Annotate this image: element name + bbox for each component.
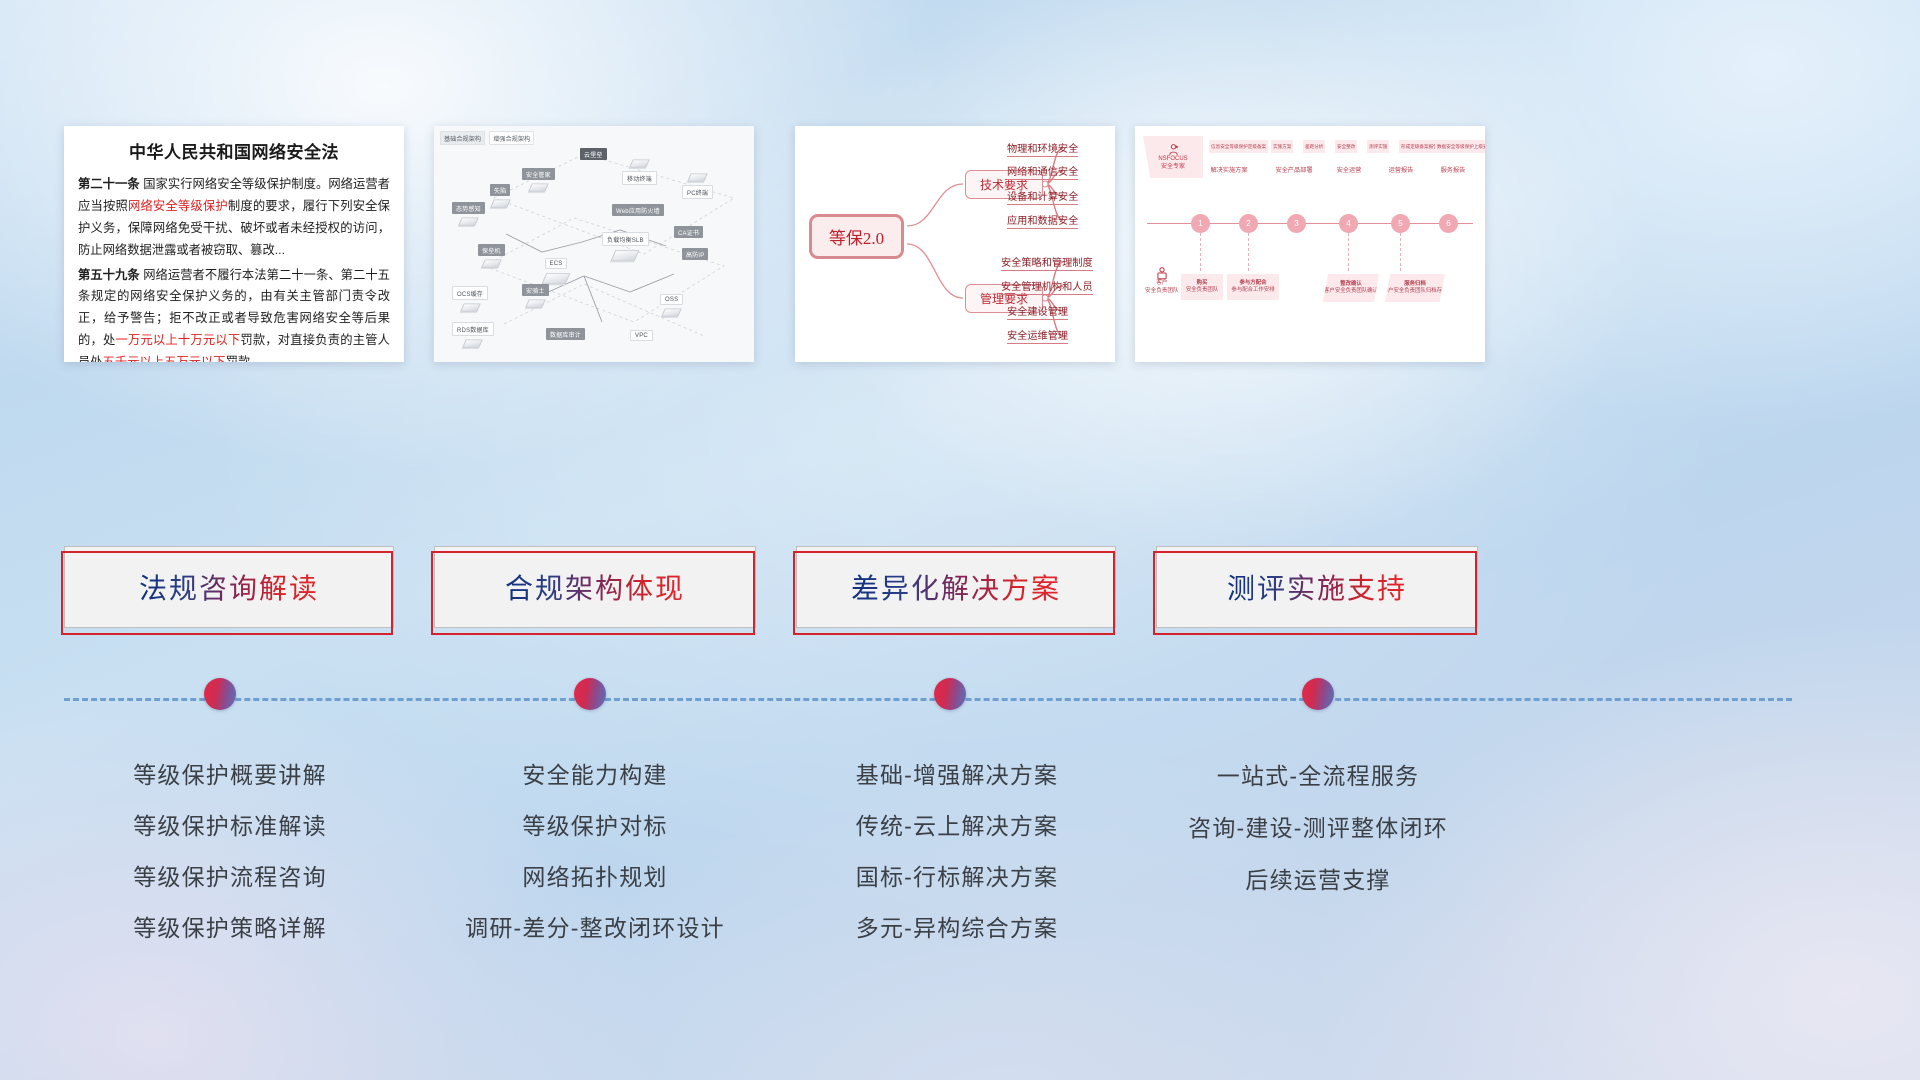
flow-step-3[interactable]: 3 (1287, 214, 1306, 233)
flow-tag-archive: 服务归档 客户安全负责团队归档存放 (1385, 274, 1445, 302)
mindmap-leaf-org-personnel: 安全管理机构和人员 (1001, 278, 1093, 295)
arch-chip-situational-awareness: 态势感知 (452, 202, 485, 214)
flow-phase-2: 安全运营 (1327, 162, 1371, 176)
detail-columns: 等级保护概要讲解 等级保护标准解读 等级保护流程咨询 等级保护策略详解 安全能力… (0, 750, 1920, 1000)
flow-dash-5 (1400, 233, 1401, 271)
detail-item: 等级保护概要讲解 (60, 750, 400, 801)
arch-icon-security-steward (528, 184, 549, 192)
article-59-label: 第五十九条 (78, 268, 140, 282)
flow-tag-rectification-sub: 客户安全负责团队确认 (1324, 288, 1378, 295)
flow-header-chip-1: 实施方案 (1271, 140, 1293, 153)
detail-item: 传统-云上解决方案 (796, 801, 1118, 852)
arch-icon-mobile-terminal (629, 160, 650, 168)
flow-dash-2 (1248, 233, 1249, 271)
flow-header-chip-4: 测评实施 (1367, 140, 1389, 153)
architecture-tab-enhanced[interactable]: 增强合规架构 (489, 131, 534, 145)
article-59-highlight-1: 一万元以上十万元以下 (115, 333, 240, 347)
detail-item: 网络拓扑规划 (434, 852, 756, 903)
flow-header-chip-0: 信息安全等级保护定级备案 (1209, 140, 1268, 153)
flow-customer-label: 客户 (1156, 280, 1167, 288)
nsfocus-brand-badge: NSFOCUS 安全专家 (1143, 136, 1203, 178)
arch-node-oss: OSS (660, 294, 683, 318)
article-21-label: 第二十一条 (78, 177, 140, 191)
flow-customer-sub: 安全负责团队 (1145, 288, 1179, 296)
flow-step-6[interactable]: 6 (1439, 214, 1458, 233)
arch-chip-pc-terminal: PC终端 (682, 185, 713, 199)
arch-chip-slb: 负载均衡SLB (602, 232, 649, 246)
arch-node-anti-ddos-ip: 高防IP (682, 248, 708, 260)
arch-chip-oss: OSS (660, 294, 683, 305)
flow-header-chip-5: 形成定级备案报告 (1399, 140, 1440, 153)
mindmap-leaf-physical-env: 物理和环境安全 (1007, 140, 1078, 157)
flow-tag-cooperation: 参与方配合 参与配合工作安排 (1227, 274, 1279, 300)
detail-item: 国标-行标解决方案 (796, 852, 1118, 903)
expert-person-icon (1167, 143, 1180, 156)
law-article-59: 第五十九条 网络运营者不履行本法第二十一条、第二十五条规定的网络安全保护义务的，… (78, 265, 390, 363)
law-title: 中华人民共和国网络安全法 (78, 138, 390, 163)
arch-chip-anti-ddos-ip: 高防IP (682, 248, 708, 260)
arch-icon-ecs (542, 273, 571, 284)
flow-dash-4 (1348, 233, 1349, 271)
detail-item: 等级保护策略详解 (60, 903, 400, 954)
flow-phase-1: 安全产品部署 (1267, 162, 1321, 176)
detail-item: 等级保护对标 (434, 801, 756, 852)
detail-item: 一站式-全流程服务 (1150, 750, 1486, 802)
arch-node-slb: 负载均衡SLB (602, 232, 649, 263)
banner-label-1: 合规架构体现 (505, 567, 685, 607)
detail-column-3: 基础-增强解决方案 传统-云上解决方案 国标-行标解决方案 多元-异构综合方案 (796, 750, 1118, 954)
arch-node-db-audit: 数据库审计 (546, 328, 585, 340)
flow-tag-purchase: 购买 安全负责团队 (1181, 274, 1223, 300)
arch-chip-vpc: VPC (630, 330, 653, 341)
detail-column-1: 等级保护概要讲解 等级保护标准解读 等级保护流程咨询 等级保护策略详解 (60, 750, 400, 954)
timeline-dot-1[interactable] (204, 678, 236, 710)
detail-item: 等级保护标准解读 (60, 801, 400, 852)
arch-icon-rds (463, 340, 484, 348)
flow-customer-block: 客户 安全负责团队 (1145, 266, 1179, 295)
flow-dash-1 (1200, 233, 1201, 271)
flow-tag-cooperation-sub: 参与配合工作安排 (1231, 287, 1274, 294)
arch-chip-bastion-host: 保垒机 (478, 244, 505, 256)
flow-step-2[interactable]: 2 (1239, 214, 1258, 233)
arch-chip-security-steward: 安全管家 (522, 168, 555, 180)
flow-tag-purchase-title: 购买 (1197, 280, 1208, 287)
flow-header-chip-6: 数据安全等级保护上级安全运维服务 (1435, 140, 1485, 153)
detail-item: 后续运营支撑 (1150, 854, 1486, 906)
banner-label-2: 差异化解决方案 (851, 567, 1061, 607)
timeline (0, 670, 1920, 728)
arch-node-situational-awareness: 态势感知 (452, 202, 485, 227)
arch-chip-cloud-bastion: 云堡垒 (580, 148, 607, 160)
arch-node-cloud-bastion: 云堡垒 (580, 148, 607, 160)
flow-tag-rectification: 整改确认 客户安全负责团队确认 (1323, 274, 1379, 302)
card-law-document[interactable]: 中华人民共和国网络安全法 第二十一条 国家实行网络安全等级保护制度。网络运营者应… (64, 126, 404, 362)
flow-tag-archive-title: 服务归档 (1404, 281, 1426, 288)
timeline-dot-3[interactable] (934, 678, 966, 710)
architecture-tab-basic[interactable]: 基础合规架构 (440, 131, 485, 145)
arch-chip-anqishi: 安骑士 (522, 284, 549, 296)
mindmap-canvas: 等保2.0 技术要求 管理要求 物理和环境安全 网络和通信安全 设备和计算安全 … (795, 126, 1115, 362)
flow-header-chip-3: 安全整改 (1335, 140, 1357, 153)
arch-chip-ecs: ECS (545, 258, 568, 269)
customer-person-icon (1155, 266, 1169, 280)
flow-header-chip-2: 差距分析 (1303, 140, 1325, 153)
arch-node-waf: Web应用防火墙 (612, 204, 664, 216)
service-flow-canvas: NSFOCUS 安全专家 信息安全等级保护定级备案 实施方案 差距分析 安全整改… (1135, 126, 1485, 362)
architecture-canvas: 基础合规架构 增强合规架构 云堡垒 安全管家 失陷 态势感知 保垒机 (434, 126, 754, 362)
nsfocus-brand-name: NSFOCUS (1158, 156, 1187, 164)
arch-chip-rds: RDS数据库 (452, 322, 494, 336)
banner-row: 法规咨询解读 合规架构体现 差异化解决方案 测评实施支持 (0, 546, 1920, 634)
detail-item: 调研-差分-整改闭环设计 (434, 903, 756, 954)
detail-item: 基础-增强解决方案 (796, 750, 1118, 801)
arch-chip-mobile-terminal: 移动终端 (622, 171, 657, 185)
arch-icon-ocs-cache (460, 304, 481, 312)
arch-icon-bastion-host (481, 260, 502, 268)
card-row: 中华人民共和国网络安全法 第二十一条 国家实行网络安全等级保护制度。网络运营者应… (0, 126, 1920, 362)
arch-icon-pc-terminal (687, 174, 708, 182)
law-document-body: 中华人民共和国网络安全法 第二十一条 国家实行网络安全等级保护制度。网络运营者应… (64, 126, 404, 362)
arch-node-breach: 失陷 (490, 184, 510, 209)
mindmap-root-node[interactable]: 等保2.0 (809, 214, 904, 259)
arch-node-ocs-cache: OCS缓存 (452, 286, 488, 313)
arch-node-bastion-host: 保垒机 (478, 244, 505, 269)
flow-tag-archive-sub: 客户安全负责团队归档存放 (1383, 288, 1448, 295)
arch-node-rds: RDS数据库 (452, 322, 494, 349)
banner-label-3: 测评实施支持 (1227, 567, 1407, 607)
mindmap-leaf-construction-mgmt: 安全建设管理 (1007, 303, 1068, 320)
flow-phase-3: 运营报告 (1379, 162, 1423, 176)
flow-tag-purchase-sub: 安全负责团队 (1186, 287, 1218, 294)
arch-node-security-steward: 安全管家 (522, 168, 555, 193)
arch-node-mobile-terminal: 移动终端 (622, 156, 657, 185)
card-service-flow[interactable]: NSFOCUS 安全专家 信息安全等级保护定级备案 实施方案 差距分析 安全整改… (1135, 126, 1485, 362)
mindmap-leaf-policy-system: 安全策略和管理制度 (1001, 254, 1093, 271)
mindmap-leaf-network-comm: 网络和通信安全 (1007, 163, 1078, 180)
nsfocus-brand-sub: 安全专家 (1161, 164, 1185, 172)
detail-item: 等级保护流程咨询 (60, 852, 400, 903)
card-architecture-diagram[interactable]: 基础合规架构 增强合规架构 云堡垒 安全管家 失陷 态势感知 保垒机 (434, 126, 754, 362)
arch-node-ca-cert: CA证书 (674, 226, 703, 238)
article-21-highlight: 网络安全等级保护 (128, 199, 228, 213)
card-mindmap[interactable]: 等保2.0 技术要求 管理要求 物理和环境安全 网络和通信安全 设备和计算安全 … (795, 126, 1115, 362)
flow-phase-4: 服务报告 (1431, 162, 1475, 176)
detail-column-4: 一站式-全流程服务 咨询-建设-测评整体闭环 后续运营支撑 (1150, 750, 1486, 906)
law-article-21: 第二十一条 国家实行网络安全等级保护制度。网络运营者应当按照网络安全等级保护制度… (78, 174, 390, 262)
detail-item: 安全能力构建 (434, 750, 756, 801)
article-59-text-part3: 罚款。 (226, 355, 263, 362)
mindmap-leaf-ops-mgmt: 安全运维管理 (1007, 327, 1068, 344)
flow-tag-cooperation-title: 参与方配合 (1240, 280, 1267, 287)
timeline-dot-2[interactable] (574, 678, 606, 710)
banner-assessment-support[interactable]: 测评实施支持 (1156, 546, 1478, 628)
architecture-tabs[interactable]: 基础合规架构 增强合规架构 (440, 131, 534, 145)
banner-differentiated-solution[interactable]: 差异化解决方案 (796, 546, 1116, 628)
timeline-dashed-line (64, 698, 1792, 701)
detail-item: 多元-异构综合方案 (796, 903, 1118, 954)
banner-regulation-consulting[interactable]: 法规咨询解读 (64, 546, 394, 628)
arch-icon-slb (611, 250, 640, 261)
timeline-dot-4[interactable] (1302, 678, 1334, 710)
banner-label-0: 法规咨询解读 (139, 567, 319, 607)
arch-icon-situational-awareness (458, 218, 479, 226)
arch-node-vpc: VPC (630, 330, 653, 341)
detail-item: 咨询-建设-测评整体闭环 (1150, 802, 1486, 854)
arch-chip-db-audit: 数据库审计 (546, 328, 585, 340)
flow-step-1[interactable]: 1 (1191, 214, 1210, 233)
arch-icon-anqishi (525, 300, 546, 308)
arch-chip-ca-cert: CA证书 (674, 226, 703, 238)
mindmap-leaf-device-compute: 设备和计算安全 (1007, 188, 1078, 205)
mindmap-leaf-app-data: 应用和数据安全 (1007, 212, 1078, 229)
flow-step-4[interactable]: 4 (1339, 214, 1358, 233)
detail-column-2: 安全能力构建 等级保护对标 网络拓扑规划 调研-差分-整改闭环设计 (434, 750, 756, 954)
flow-phase-0: 解决实施方案 (1199, 162, 1259, 176)
article-59-highlight-2: 五千元以上五万元以下 (103, 355, 226, 362)
arch-chip-waf: Web应用防火墙 (612, 204, 664, 216)
arch-node-ecs: ECS (544, 258, 568, 286)
arch-node-anqishi: 安骑士 (522, 284, 549, 309)
flow-tag-rectification-title: 整改确认 (1340, 281, 1362, 288)
arch-chip-breach: 失陷 (490, 184, 510, 196)
banner-compliance-architecture[interactable]: 合规架构体现 (434, 546, 756, 628)
arch-icon-breach (490, 200, 511, 208)
flow-step-5[interactable]: 5 (1391, 214, 1410, 233)
arch-icon-oss (661, 309, 682, 317)
arch-chip-ocs-cache: OCS缓存 (452, 286, 488, 300)
arch-node-pc-terminal: PC终端 (682, 170, 713, 199)
